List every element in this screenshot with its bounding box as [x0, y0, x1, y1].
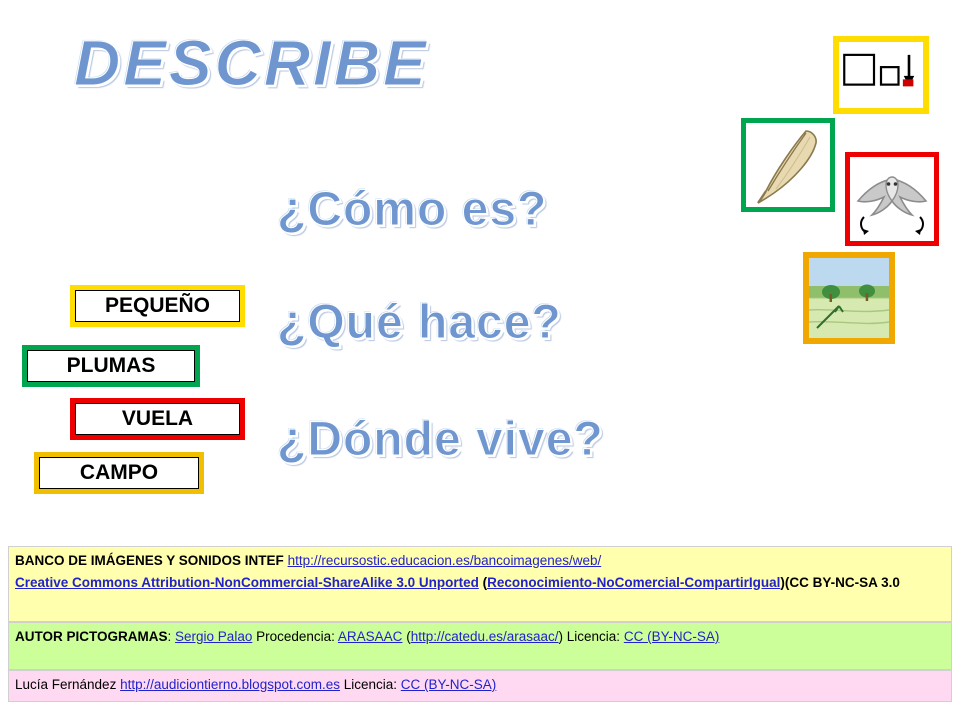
- credits-images-bar: BANCO DE IMÁGENES Y SONIDOS INTEF http:/…: [8, 546, 952, 622]
- credits-images-line1: BANCO DE IMÁGENES Y SONIDOS INTEF http:/…: [15, 551, 945, 571]
- word-box-plumas-label: PLUMAS: [27, 350, 195, 382]
- title-como-es: ¿Cómo es?: [277, 182, 547, 237]
- word-box-campo-label: CAMPO: [39, 457, 199, 489]
- countryside-field-icon: [809, 258, 889, 338]
- credits-author-license-text: Licencia:: [340, 677, 401, 692]
- credits-pictograms-label: AUTOR PICTOGRAMAS: [15, 629, 168, 644]
- word-box-campo: CAMPO: [34, 452, 204, 494]
- two-squares-arrow-icon: [839, 42, 923, 108]
- flying-bird-icon: [850, 157, 934, 241]
- credits-author-blog-link[interactable]: http://audiciontierno.blogspot.com.es: [120, 677, 340, 692]
- credits-pictograms-author-link[interactable]: Sergio Palao: [175, 629, 252, 644]
- credits-pictograms-bar: AUTOR PICTOGRAMAS: Sergio Palao Proceden…: [8, 622, 952, 670]
- credits-license-es-link[interactable]: Reconocimiento-NoComercial-CompartirIgua…: [487, 575, 780, 590]
- credits-paren-open: (: [479, 575, 487, 590]
- credits-pictograms-license-link[interactable]: CC (BY-NC-SA): [624, 629, 720, 644]
- title-describe: DESCRIBE: [74, 26, 429, 100]
- credits-images-line2: Creative Commons Attribution-NonCommerci…: [15, 573, 945, 593]
- credits-images-source-label: BANCO DE IMÁGENES Y SONIDOS INTEF: [15, 553, 284, 568]
- credits-license-tail: )(CC BY-NC-SA 3.0: [780, 575, 900, 590]
- word-box-plumas: PLUMAS: [22, 345, 200, 387]
- title-que-hace: ¿Qué hace?: [277, 295, 562, 350]
- slide-canvas: DESCRIBE ¿Cómo es? ¿Qué hace? ¿Dónde viv…: [0, 0, 960, 720]
- title-donde-vive: ¿Dónde vive?: [277, 412, 604, 467]
- credits-pictograms-license-text: Licencia:: [567, 629, 624, 644]
- credits-pictograms-line: AUTOR PICTOGRAMAS: Sergio Palao Proceden…: [15, 627, 945, 647]
- feather-icon: [746, 123, 830, 207]
- word-box-pequeno: PEQUEÑO: [70, 285, 245, 327]
- campo-pictogram-frame: [803, 252, 895, 344]
- plumas-pictogram-frame: [741, 118, 835, 212]
- credits-arasaac-url-link[interactable]: http://catedu.es/arasaac/: [411, 629, 559, 644]
- credits-pictograms-colon: :: [168, 629, 176, 644]
- pequeno-pictogram-frame: [833, 36, 929, 114]
- word-box-vuela-label: VUELA: [75, 403, 240, 435]
- credits-paren-open-2: (: [402, 629, 410, 644]
- word-box-vuela: VUELA: [70, 398, 245, 440]
- credits-license-en-link[interactable]: Creative Commons Attribution-NonCommerci…: [15, 575, 479, 590]
- credits-author-license-link[interactable]: CC (BY-NC-SA): [401, 677, 497, 692]
- credits-paren-close-2: ): [559, 629, 567, 644]
- credits-pictograms-proc-text: Procedencia:: [252, 629, 338, 644]
- credits-images-url-link[interactable]: http://recursostic.educacion.es/bancoima…: [288, 553, 602, 568]
- vuela-pictogram-frame: [845, 152, 939, 246]
- credits-author-name: Lucía Fernández: [15, 677, 116, 692]
- credits-author-line: Lucía Fernández http://audiciontierno.bl…: [15, 675, 945, 695]
- credits-author-bar: Lucía Fernández http://audiciontierno.bl…: [8, 670, 952, 702]
- word-box-pequeno-label: PEQUEÑO: [75, 290, 240, 322]
- credits-arasaac-link[interactable]: ARASAAC: [338, 629, 403, 644]
